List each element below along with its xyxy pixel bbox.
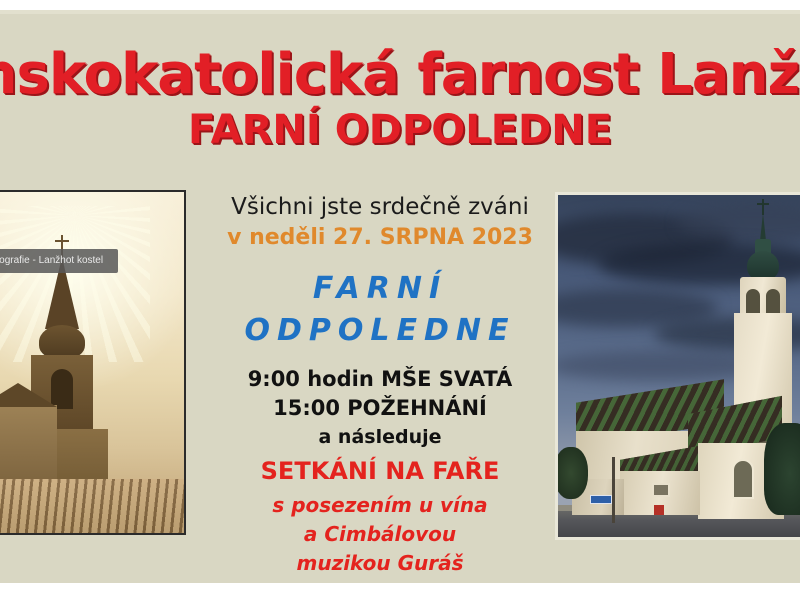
foreground-ground xyxy=(0,479,184,533)
apse-window xyxy=(732,459,754,499)
event-details-block: Všichni jste srdečně zváni v neděli 27. … xyxy=(196,192,564,578)
red-box-object xyxy=(654,505,664,515)
blue-street-sign xyxy=(590,495,612,504)
church-photo[interactable] xyxy=(555,192,800,540)
belfry-arch xyxy=(766,289,780,315)
event-date: v neděli 27. SRPNA 2023 xyxy=(196,223,564,253)
porch-window xyxy=(652,483,670,497)
poster-canvas: Římskokatolická farnost Lanžhot FARNÍ OD… xyxy=(0,0,800,600)
photo-caption-tooltip: historické fotografie - Lanžhot kostel xyxy=(0,249,118,273)
utility-pole xyxy=(612,457,615,523)
historic-photo[interactable]: kostel historické fotografie - Lanžhot k… xyxy=(0,190,186,535)
headline-line-2: ODPOLEDNE xyxy=(196,311,564,351)
parish-title: Římskokatolická farnost Lanžhot xyxy=(0,44,800,106)
detail-line-2: a Cimbálovou xyxy=(196,520,564,549)
cross-icon xyxy=(762,199,764,215)
mass-time: 9:00 hodin MŠE SVATÁ xyxy=(196,365,564,394)
blessing-time: 15:00 POŽEHNÁNÍ xyxy=(196,394,564,423)
meeting-headline: SETKÁNÍ NA FAŘE xyxy=(196,454,564,488)
detail-line-3: muzikou Guráš xyxy=(196,549,564,578)
poster-title-banner: Římskokatolická farnost Lanžhot FARNÍ OD… xyxy=(0,44,800,159)
headline-line-1: FARNÍ xyxy=(196,267,564,311)
conifer-tree xyxy=(764,423,800,515)
event-title: FARNÍ ODPOLEDNE xyxy=(188,107,612,153)
follows-label: a následuje xyxy=(196,423,564,451)
onion-dome-shape xyxy=(39,325,85,359)
invitation-line: Všichni jste srdečně zváni xyxy=(196,192,564,222)
detail-line-1: s posezením u vína xyxy=(196,491,564,520)
belfry-arch xyxy=(746,289,760,315)
